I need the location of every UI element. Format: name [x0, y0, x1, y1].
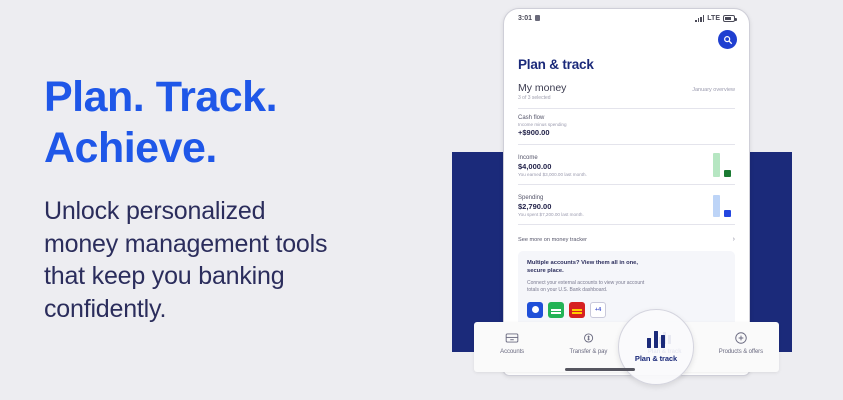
spending-amount: $2,790.00 — [518, 202, 713, 211]
status-bar: 3:01 LTE — [504, 9, 749, 27]
promo-heading-line-2: secure place. — [527, 268, 564, 274]
income-label: Income — [518, 155, 713, 161]
search-icon[interactable] — [718, 30, 737, 49]
bank-logo-more[interactable]: +4 — [590, 302, 606, 318]
my-money-label: My money — [518, 82, 566, 94]
accounts-icon — [505, 330, 519, 345]
income-amount: $4,000.00 — [518, 162, 713, 171]
divider — [518, 108, 735, 109]
divider — [518, 224, 735, 225]
body-line-3: that keep you banking — [44, 260, 444, 293]
spending-bar-current — [724, 210, 731, 217]
income-block[interactable]: Income $4,000.00 You earned $3,000.00 la… — [518, 151, 735, 177]
promo-banner: Plan. Track. Achieve. Unlock personalize… — [0, 0, 843, 400]
marketing-body: Unlock personalized money management too… — [44, 195, 444, 325]
cash-flow-title: Cash flow — [518, 115, 735, 121]
cash-flow-block[interactable]: Cash flow Income minus spending +$900.00 — [518, 115, 735, 137]
overview-label: January overview — [692, 87, 735, 93]
cash-flow-amount: +$900.00 — [518, 128, 735, 137]
bar-chart-icon — [647, 331, 666, 348]
bank-logo-blue[interactable] — [527, 302, 543, 318]
spending-chart — [713, 191, 735, 217]
promo-card[interactable]: Multiple accounts? View them all in one,… — [518, 251, 735, 328]
promo-heading: Multiple accounts? View them all in one,… — [527, 259, 726, 276]
nav-label-accounts: Accounts — [500, 349, 524, 355]
plus-circle-icon — [734, 330, 748, 345]
marketing-copy: Plan. Track. Achieve. Unlock personalize… — [44, 72, 444, 325]
spending-bar-total — [713, 195, 720, 217]
nav-label-transfer-pay: Transfer & pay — [570, 349, 608, 355]
home-indicator — [565, 368, 635, 371]
spending-block[interactable]: Spending $2,790.00 You spent $7,200.00 l… — [518, 191, 735, 217]
promo-body-line-2: totals on your U.S. Bank dashboard. — [527, 287, 607, 293]
promo-body-line-1: Connect your external accounts to view y… — [527, 280, 644, 286]
cash-flow-sub: Income minus spending — [518, 122, 735, 127]
divider — [518, 184, 735, 185]
plan-track-magnifier[interactable]: Plan & track — [618, 309, 694, 385]
spending-label: Spending — [518, 195, 713, 201]
see-more-money-tracker-link[interactable]: See more on money tracker › — [518, 231, 735, 247]
bank-logo-red[interactable] — [569, 302, 585, 318]
app-screen: Plan & track My money January overview 3… — [504, 57, 749, 247]
income-bar-total — [713, 153, 720, 177]
my-money-header: My money January overview — [518, 82, 735, 94]
nav-item-products-offers[interactable]: Products & offers — [703, 322, 779, 355]
promo-heading-line-1: Multiple accounts? View them all in one, — [527, 260, 638, 266]
headline-line-1: Plan. Track. — [44, 73, 277, 121]
income-chart — [713, 151, 735, 177]
nav-item-accounts[interactable]: Accounts — [474, 322, 550, 355]
nav-label-products-offers: Products & offers — [719, 349, 763, 355]
bank-logo-green[interactable] — [548, 302, 564, 318]
nav-item-transfer-pay[interactable]: Transfer & pay — [550, 322, 626, 355]
selected-count: 3 of 3 selected — [518, 95, 735, 101]
screen-title: Plan & track — [518, 57, 735, 72]
chevron-right-icon: › — [733, 236, 735, 243]
headline-line-2: Achieve. — [44, 123, 444, 174]
search-row — [504, 27, 749, 57]
body-line-1: Unlock personalized — [44, 195, 444, 228]
see-more-label: See more on money tracker — [518, 237, 587, 243]
promo-body: Connect your external accounts to view y… — [527, 280, 726, 295]
magnified-nav-label: Plan & track — [635, 354, 677, 363]
battery-icon — [723, 15, 735, 22]
page-title: Plan. Track. Achieve. — [44, 72, 444, 173]
income-bar-current — [724, 170, 731, 177]
bank-logo-list: +4 — [527, 302, 726, 318]
body-line-4: confidently. — [44, 293, 444, 326]
body-line-2: money management tools — [44, 228, 444, 261]
income-sub: You earned $3,000.00 last month. — [518, 172, 713, 177]
notification-icon — [535, 15, 540, 21]
signal-icon — [695, 15, 704, 22]
transfer-pay-icon — [581, 330, 595, 345]
phone-mockup: 3:01 LTE Plan & track My money January o… — [503, 8, 750, 376]
divider — [518, 144, 735, 145]
spending-sub: You spent $7,200.00 last month. — [518, 212, 713, 217]
status-time: 3:01 — [518, 15, 532, 22]
network-label: LTE — [707, 15, 720, 22]
